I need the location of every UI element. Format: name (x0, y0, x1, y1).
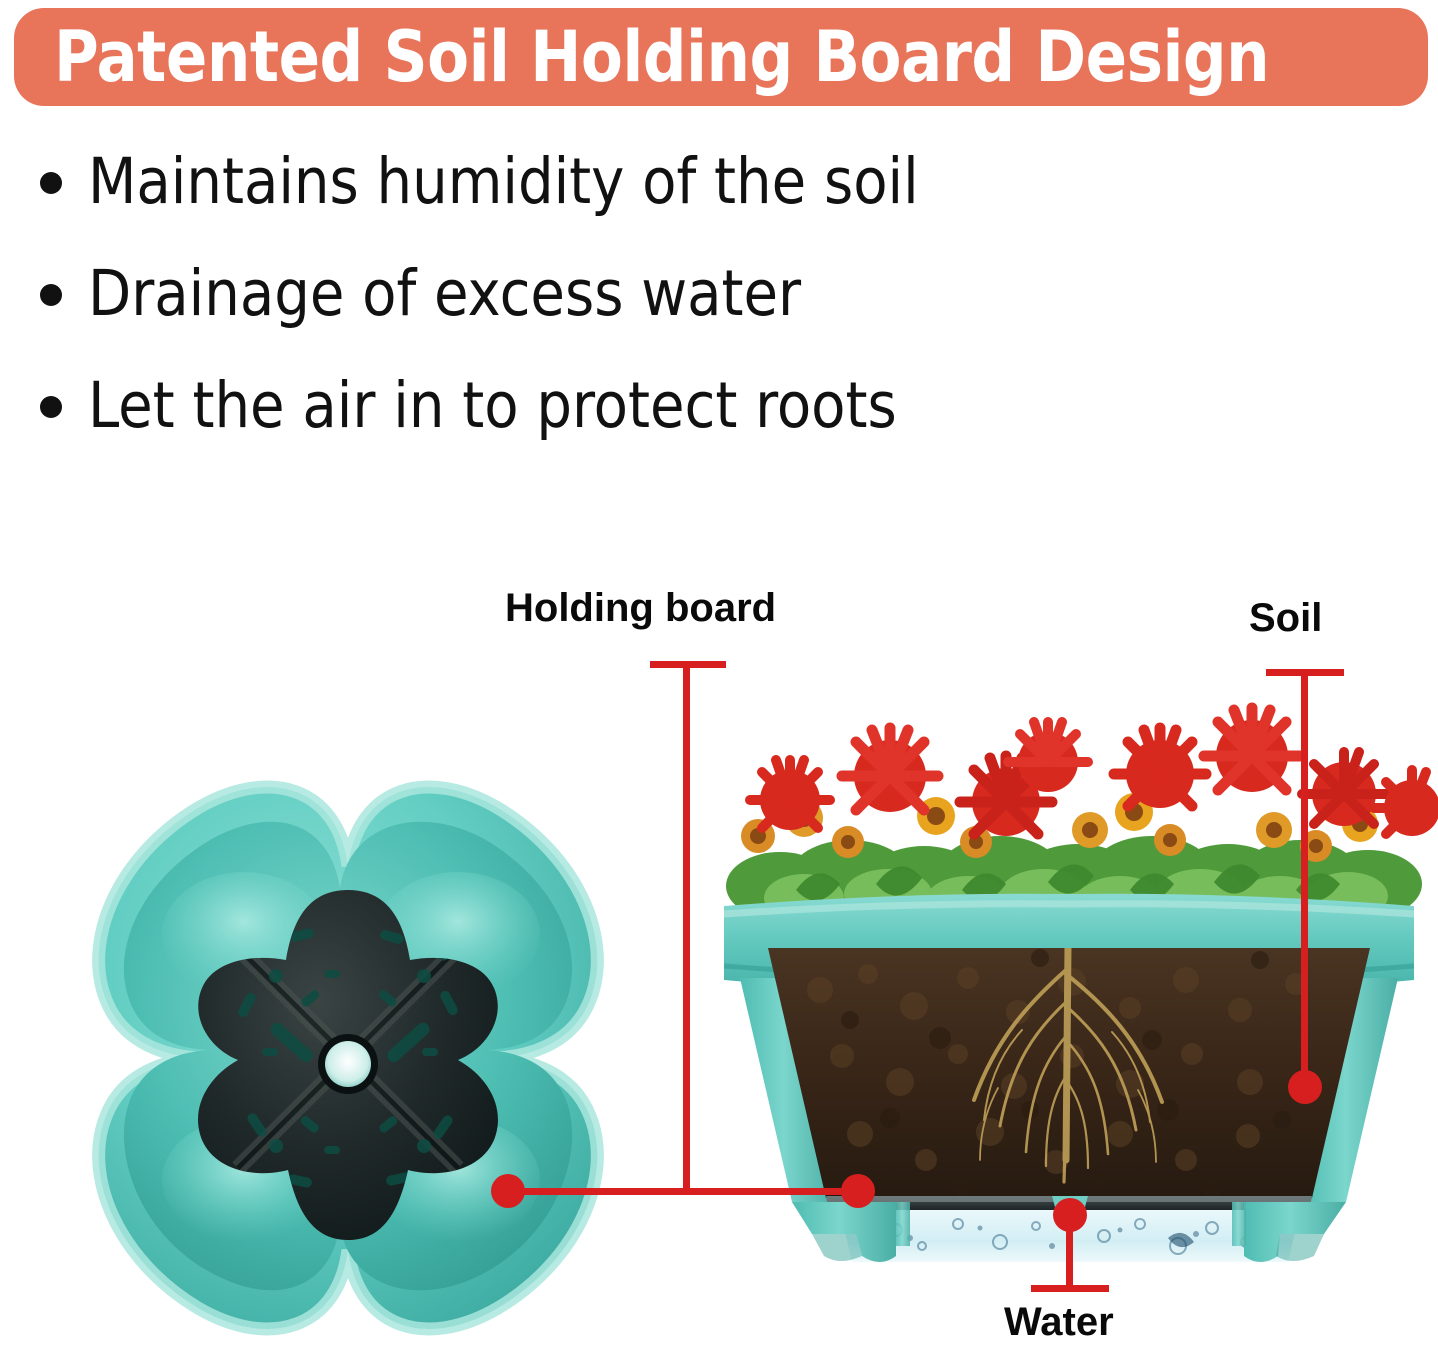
leader-line-holding-board-stem (683, 661, 690, 1195)
list-item-label: Maintains humidity of the soil (88, 140, 919, 224)
product-photo-top-view (38, 748, 658, 1368)
flower-cluster (726, 708, 1438, 924)
leader-dot-soil (1288, 1070, 1322, 1104)
leader-dot-holding-board-right (841, 1174, 875, 1208)
leader-line-holding-board-run (508, 1188, 860, 1195)
drain-hole (325, 1041, 371, 1087)
annotation-label-soil: Soil (1249, 596, 1322, 641)
list-item: Drainage of excess water (40, 252, 1140, 336)
page-title: Patented Soil Holding Board Design (54, 16, 1269, 98)
list-item-label: Let the air in to protect roots (88, 364, 897, 448)
leader-dot-holding-board-left (491, 1174, 525, 1208)
leader-line-soil-stem (1301, 669, 1308, 1087)
bullet-dot-icon (40, 396, 62, 418)
annotation-label-holding-board: Holding board (505, 586, 776, 631)
bullet-dot-icon (40, 284, 62, 306)
infographic-page: Patented Soil Holding Board Design Maint… (0, 0, 1438, 1369)
annotation-label-water: Water (1004, 1300, 1114, 1345)
bullet-dot-icon (40, 172, 62, 194)
header-banner: Patented Soil Holding Board Design (14, 8, 1428, 106)
soil-cross-section (768, 946, 1370, 1198)
feature-list: Maintains humidity of the soil Drainage … (40, 140, 1140, 476)
leader-line-water-stem (1066, 1214, 1073, 1290)
leader-line-water-tee (1031, 1285, 1109, 1292)
list-item-label: Drainage of excess water (88, 252, 801, 336)
list-item: Maintains humidity of the soil (40, 140, 1140, 224)
list-item: Let the air in to protect roots (40, 364, 1140, 448)
